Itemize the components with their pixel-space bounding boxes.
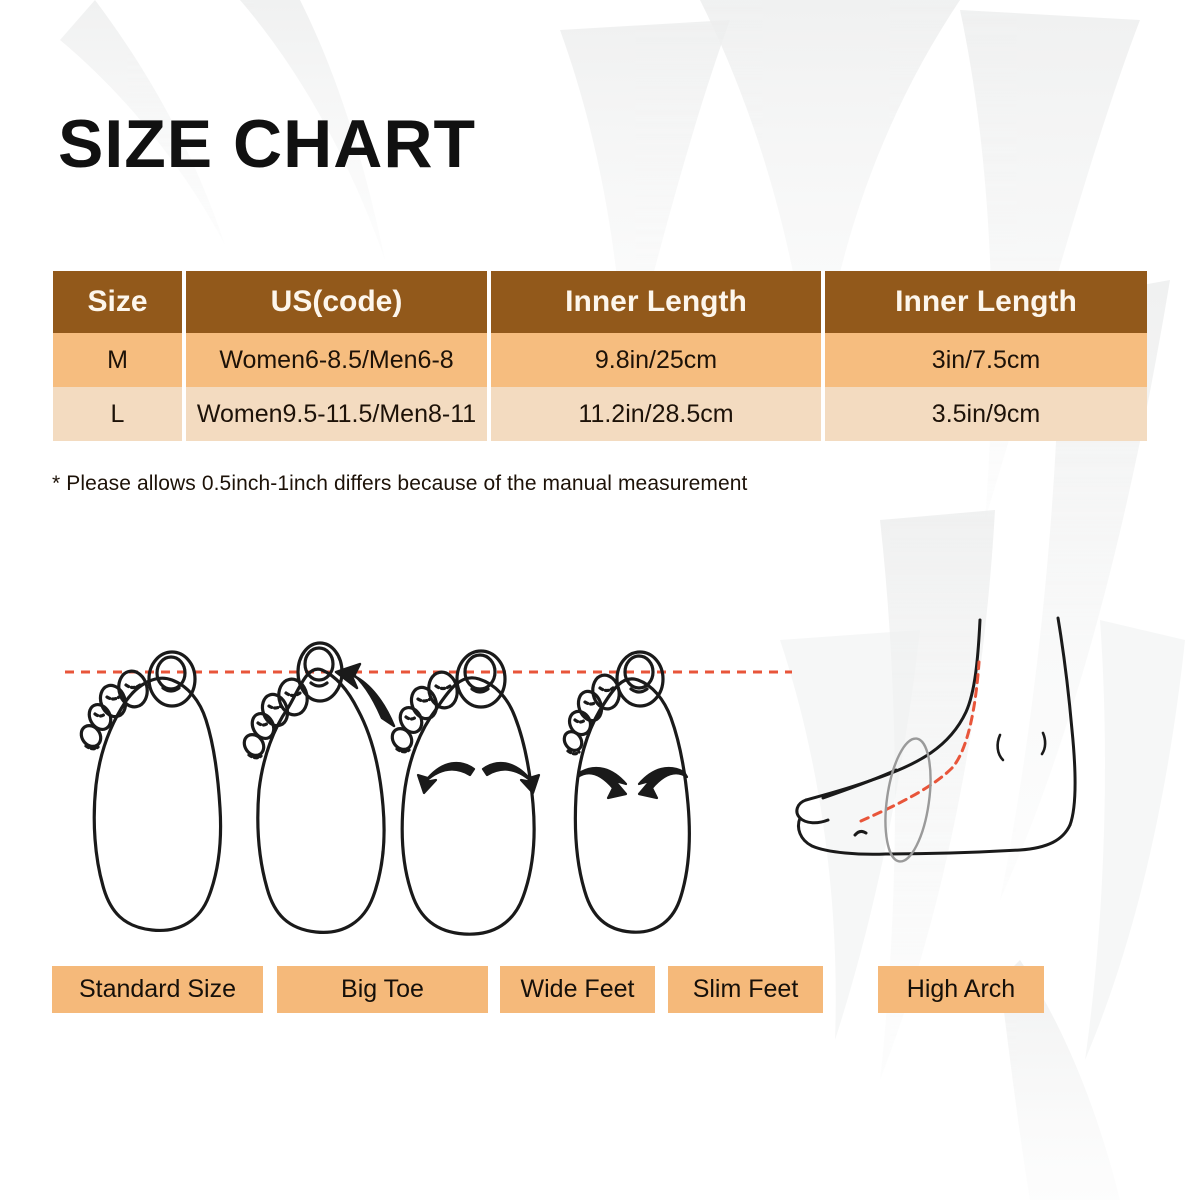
table-row: M Women6-8.5/Men6-8 9.8in/25cm 3in/7.5cm (53, 333, 1147, 387)
slim-arrow-right-icon (578, 768, 626, 798)
foot-top-view-standard-icon (77, 652, 220, 930)
label-big-toe: Big Toe (277, 966, 488, 1013)
foot-top-view-wide-icon (388, 651, 534, 934)
foot-type-diagrams (0, 600, 1200, 970)
column-header-size: Size (53, 271, 186, 333)
label-wide-feet: Wide Feet (500, 966, 655, 1013)
wide-arrow-right-icon (483, 763, 539, 793)
cell-inner-length-1: 9.8in/25cm (491, 333, 825, 387)
foot-side-view-high-arch-icon (797, 618, 1075, 854)
arch-measure-ellipse (879, 736, 938, 865)
measurement-disclaimer: * Please allows 0.5inch-1inch differs be… (52, 472, 747, 496)
cell-inner-length-2: 3in/7.5cm (825, 333, 1147, 387)
size-chart-table: Size US(code) Inner Length Inner Length … (53, 271, 1147, 441)
arch-reference-line (861, 662, 979, 821)
column-header-inner-length-2: Inner Length (825, 271, 1147, 333)
cell-inner-length-1: 11.2in/28.5cm (491, 387, 825, 441)
foot-top-view-big-toe-icon (240, 643, 384, 932)
label-slim-feet: Slim Feet (668, 966, 823, 1013)
wide-arrow-left-icon (418, 763, 474, 793)
label-standard-size: Standard Size (52, 966, 263, 1013)
table-row: L Women9.5-11.5/Men8-11 11.2in/28.5cm 3.… (53, 387, 1147, 441)
cell-us-code: Women6-8.5/Men6-8 (186, 333, 491, 387)
table-header-row: Size US(code) Inner Length Inner Length (53, 271, 1147, 333)
cell-size: L (53, 387, 186, 441)
cell-size: M (53, 333, 186, 387)
page-title: SIZE CHART (58, 110, 476, 178)
label-high-arch: High Arch (878, 966, 1044, 1013)
cell-inner-length-2: 3.5in/9cm (825, 387, 1147, 441)
cell-us-code: Women9.5-11.5/Men8-11 (186, 387, 491, 441)
column-header-inner-length-1: Inner Length (491, 271, 825, 333)
column-header-us-code: US(code) (186, 271, 491, 333)
slim-arrow-left-icon (639, 768, 687, 798)
